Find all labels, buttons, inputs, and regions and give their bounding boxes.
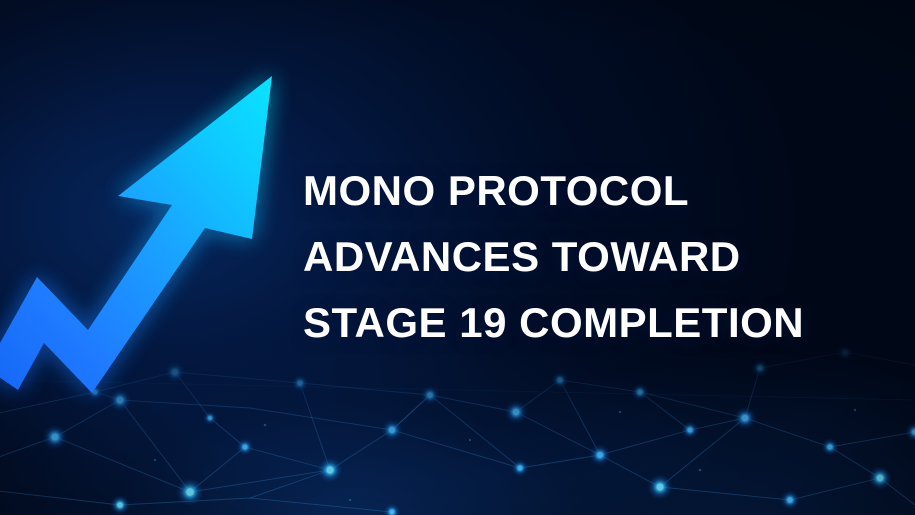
headline-line-2: ADVANCES TOWARD xyxy=(303,224,823,290)
banner-canvas: MONO PROTOCOL ADVANCES TOWARD STAGE 19 C… xyxy=(0,0,915,515)
page-title: MONO PROTOCOL ADVANCES TOWARD STAGE 19 C… xyxy=(303,158,823,356)
headline-line-3: STAGE 19 COMPLETION xyxy=(303,290,823,356)
headline-line-1: MONO PROTOCOL xyxy=(303,158,823,224)
growth-arrow-icon xyxy=(0,0,340,515)
